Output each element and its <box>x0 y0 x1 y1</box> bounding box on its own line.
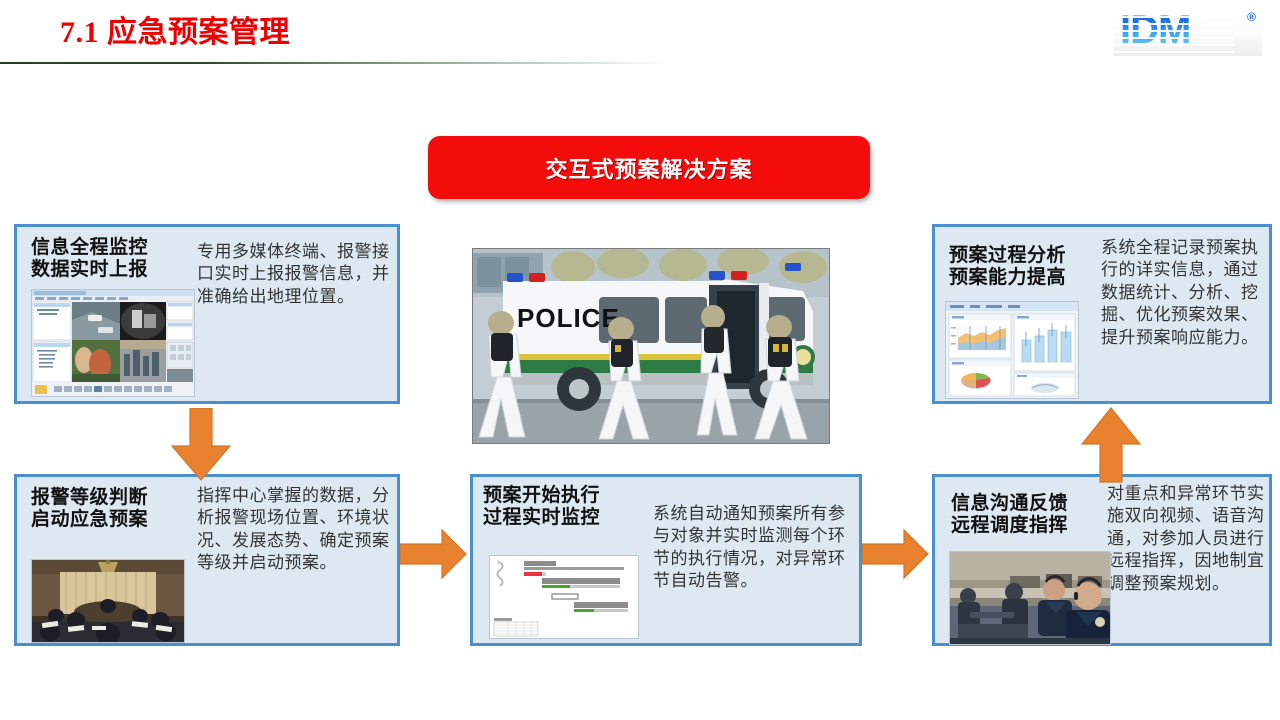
down-arrow-icon <box>168 408 234 482</box>
card-heading: 报警等级判断 启动应急预案 <box>31 487 148 532</box>
card-body-text: 系统全程记录预案执行的详实信息，通过数据统计、分析、挖掘、优化预案效果、提升预案… <box>1101 237 1273 349</box>
solution-banner: 交互式预案解决方案 <box>428 136 870 199</box>
card-heading: 预案开始执行 过程实时监控 <box>483 485 600 530</box>
card-heading: 信息全程监控 数据实时上报 <box>31 237 148 282</box>
gantt-chart-screenshot <box>489 555 639 639</box>
card-information-monitoring[interactable]: 信息全程监控 数据实时上报 专用多媒体终端、报警接口实时上报报警信息，并准确给出… <box>14 224 400 404</box>
card-alarm-level-judgement[interactable]: 报警等级判断 启动应急预案 指挥中心掌握的数据，分析报警现场位置、环境状况、发展… <box>14 474 400 646</box>
page-title: 7.1 应急预案管理 <box>60 7 290 51</box>
right-arrow-icon <box>400 528 468 580</box>
police-van-illustration: POLICE <box>473 249 829 443</box>
right-arrow-icon <box>862 528 930 580</box>
title-divider <box>0 62 670 64</box>
card-body-text: 专用多媒体终端、报警接口实时上报报警信息，并准确给出地理位置。 <box>197 241 397 308</box>
slide-header: 7.1 应急预案管理 IDM ® <box>0 0 1280 70</box>
registered-trademark-icon: ® <box>1247 10 1256 24</box>
card-plan-execution-monitoring[interactable]: 预案开始执行 过程实时监控 系统自动通知预案所有参与对象并实时监测每个环节的执行… <box>470 474 862 646</box>
conference-room-photo <box>31 559 185 643</box>
card-process-analysis[interactable]: 预案过程分析 预案能力提高 系统全程记录预案执行的详实信息，通过数据统计、分析、… <box>932 224 1272 404</box>
card-body-text: 对重点和异常环节实施双向视频、语音沟通，对参加人员进行远程指挥，因地制宜调整预案… <box>1107 483 1275 595</box>
card-heading: 信息沟通反馈 远程调度指挥 <box>951 493 1068 538</box>
idm-logo: IDM ® <box>1114 4 1262 56</box>
svg-text:POLICE: POLICE <box>517 303 620 333</box>
up-arrow-icon <box>1078 406 1144 484</box>
card-communication-feedback[interactable]: 信息沟通反馈 远程调度指挥 对重点和异常环节实施双向视频、语音沟通，对参加人员进… <box>932 474 1272 646</box>
card-body-text: 系统自动通知预案所有参与对象并实时监测每个环节的执行情况，对异常环节自动告警。 <box>653 503 853 593</box>
card-body-text: 指挥中心掌握的数据，分析报警现场位置、环境状况、发展态势、确定预案等级并启动预案… <box>197 485 397 575</box>
bi-dashboard-screenshot <box>945 301 1079 399</box>
solution-banner-label: 交互式预案解决方案 <box>545 152 752 184</box>
dispatch-center-photo <box>949 551 1111 645</box>
police-response-photo: POLICE <box>472 248 830 444</box>
cctv-monitoring-screenshot <box>31 289 195 397</box>
logo-wordmark: IDM <box>1114 8 1190 53</box>
card-heading: 预案过程分析 预案能力提高 <box>949 245 1066 290</box>
